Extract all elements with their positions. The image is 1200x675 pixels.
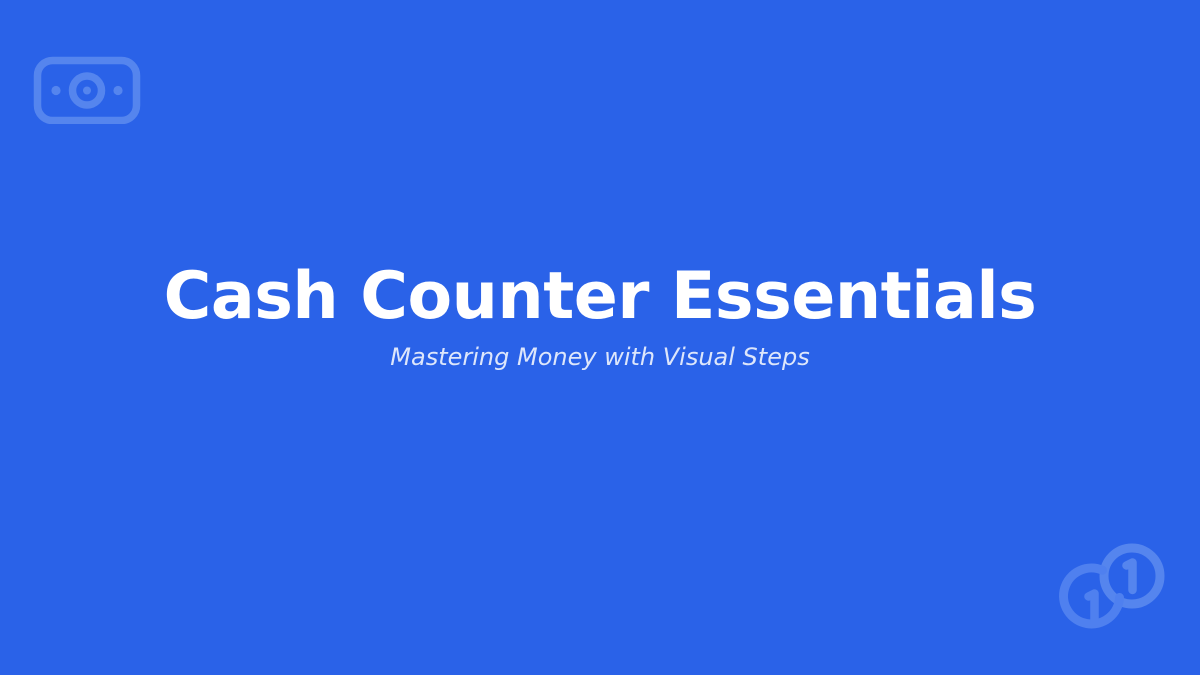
title-block: Cash Counter Essentials Mastering Money …	[0, 0, 1200, 675]
page-title: Cash Counter Essentials	[104, 263, 1097, 332]
title-slide: Cash Counter Essentials Mastering Money …	[0, 0, 1200, 675]
page-subtitle: Mastering Money with Visual Steps	[330, 342, 869, 373]
